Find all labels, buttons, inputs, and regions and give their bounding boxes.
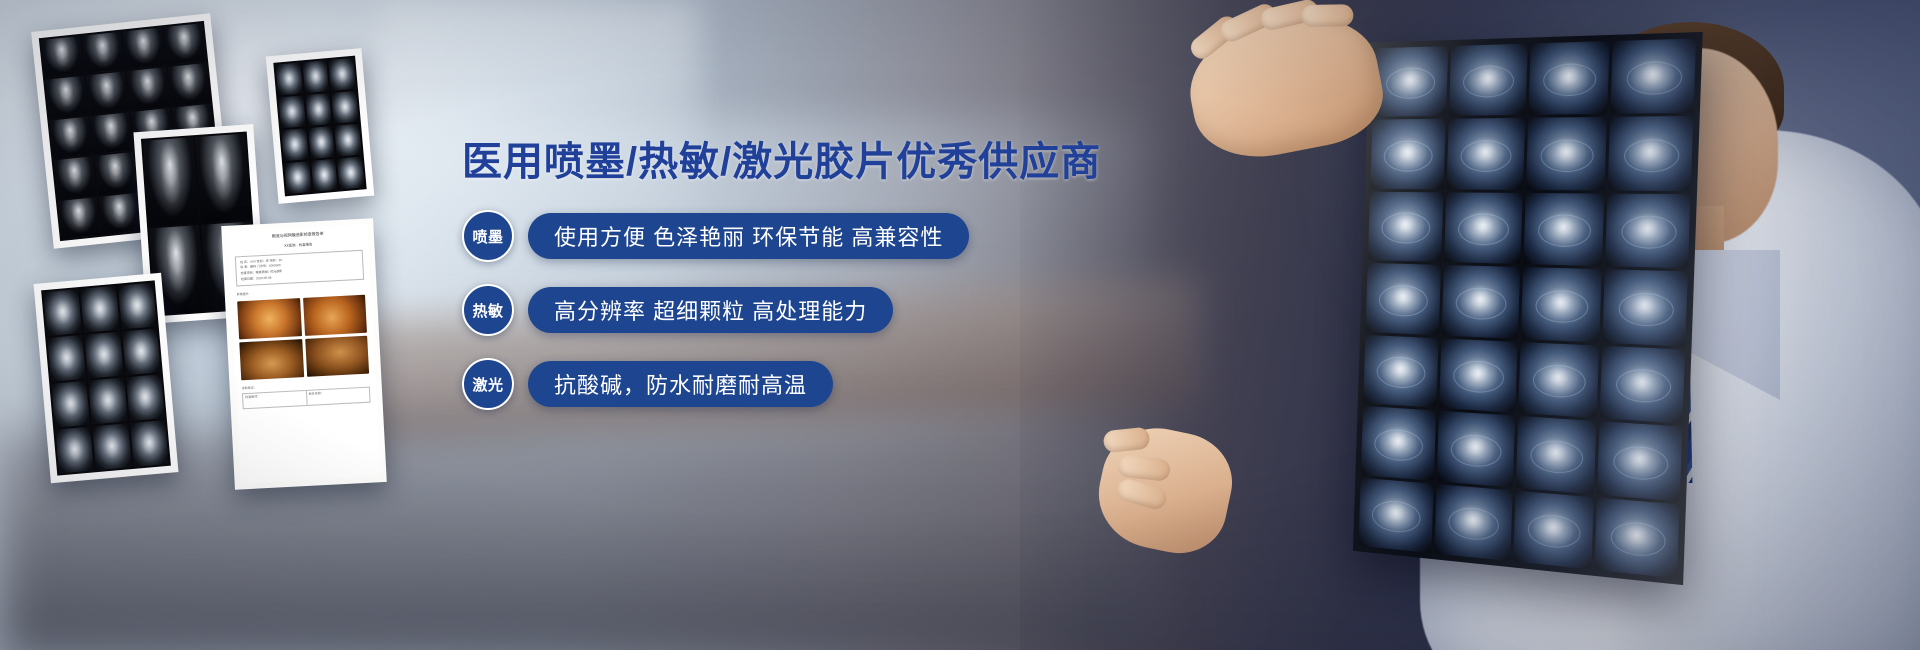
feature-row-inkjet: 喷墨 使用方便 色泽艳丽 环保节能 高兼容性 bbox=[462, 210, 1082, 262]
feature-chip-laser: 激光 bbox=[462, 358, 514, 410]
headline: 医用喷墨/热敏/激光胶片优秀供应商 bbox=[462, 140, 1082, 184]
feature-chip-thermal: 热敏 bbox=[462, 284, 514, 336]
feature-list: 喷墨 使用方便 色泽艳丽 环保节能 高兼容性 热敏 高分辨率 超细颗粒 高处理能… bbox=[462, 210, 1082, 410]
feature-pill-thermal: 高分辨率 超细颗粒 高处理能力 bbox=[528, 287, 893, 333]
feature-pill-inkjet: 使用方便 色泽艳丽 环保节能 高兼容性 bbox=[528, 213, 969, 259]
feature-row-laser: 激光 抗酸碱，防水耐磨耐高温 bbox=[462, 358, 1082, 410]
feature-row-thermal: 热敏 高分辨率 超细颗粒 高处理能力 bbox=[462, 284, 1082, 336]
promo-banner: 眼底与视网膜造影检查报告单 XX医院 · 检查报告 姓 名：XXX 性别：男 年… bbox=[0, 0, 1920, 650]
feature-chip-inkjet: 喷墨 bbox=[462, 210, 514, 262]
banner-content: 医用喷墨/热敏/激光胶片优秀供应商 喷墨 使用方便 色泽艳丽 环保节能 高兼容性… bbox=[462, 140, 1082, 432]
feature-pill-laser: 抗酸碱，防水耐磨耐高温 bbox=[528, 361, 833, 407]
